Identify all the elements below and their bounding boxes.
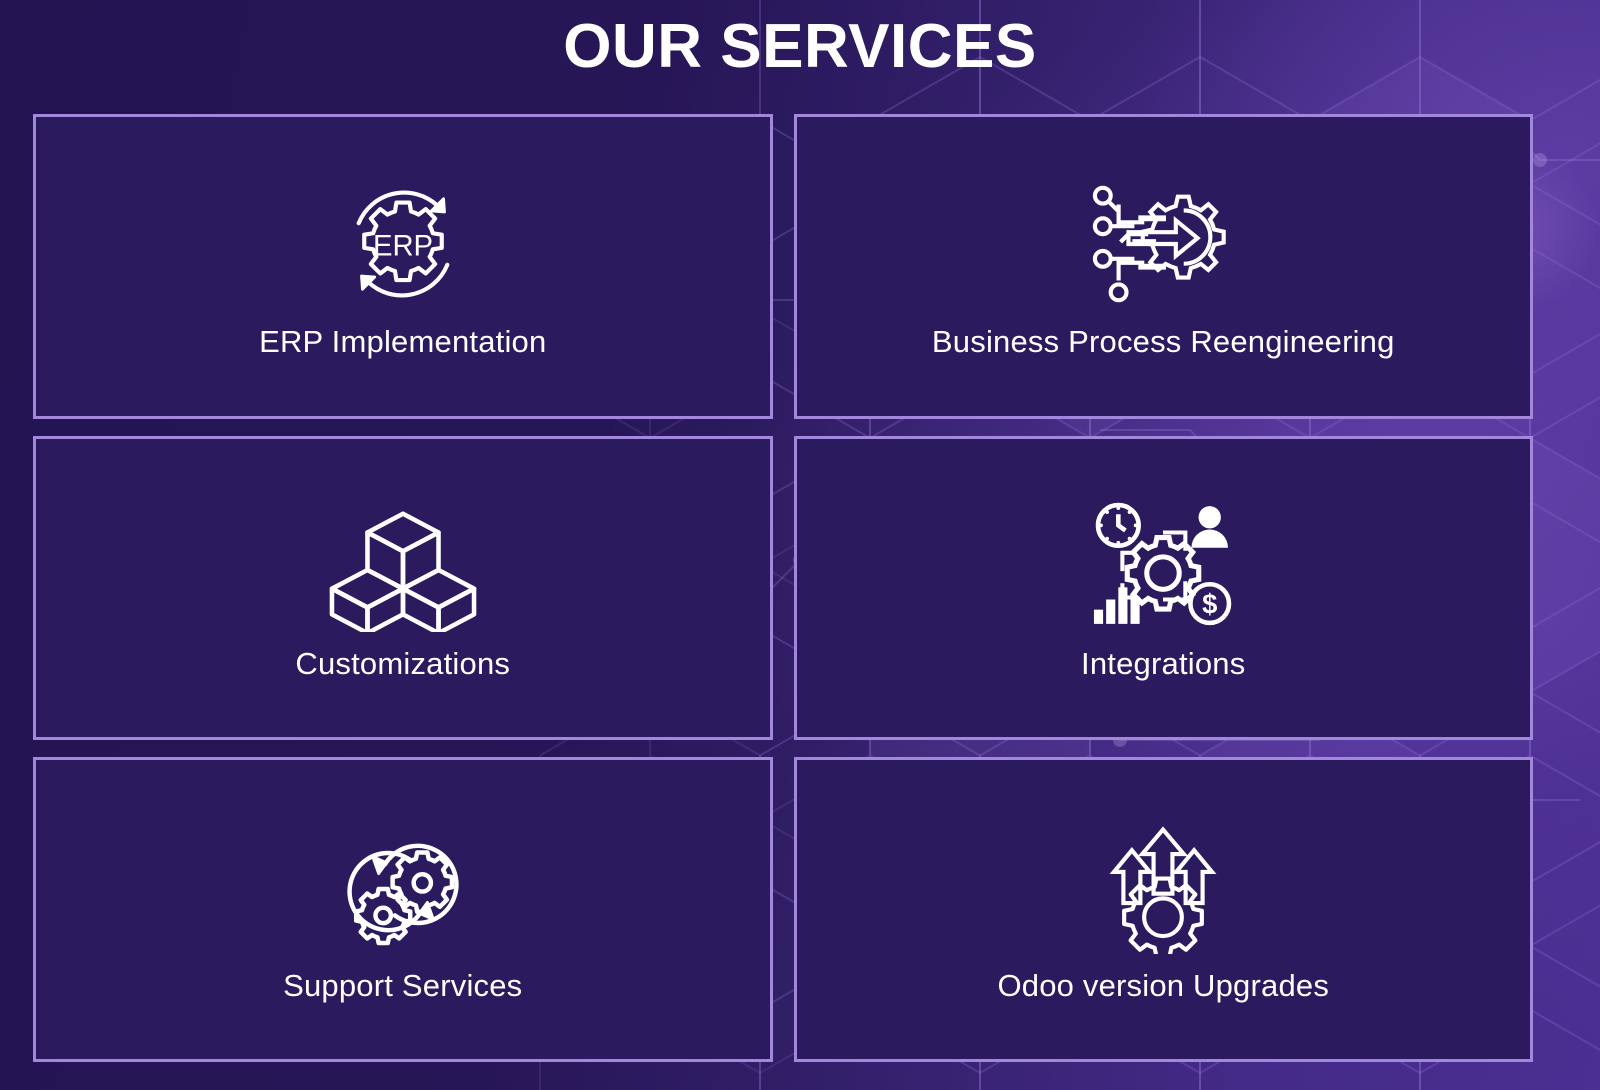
service-label: Support Services (283, 968, 522, 1004)
service-label: Customizations (295, 646, 510, 682)
two-gears-cycle-arrows-icon (329, 822, 477, 954)
service-card-customizations[interactable]: Customizations (33, 436, 773, 741)
service-card-support-services[interactable]: Support Services (33, 757, 773, 1062)
service-label: Integrations (1081, 646, 1245, 682)
service-card-business-process-reengineering[interactable]: Business Process Reengineering (794, 114, 1534, 419)
service-label: Odoo version Upgrades (997, 968, 1329, 1004)
services-grid: ERP ERP Implementation (33, 114, 1533, 1062)
gear-clock-user-chart-dollar-icon: $ (1089, 500, 1237, 632)
gear-up-arrows-icon (1089, 822, 1237, 954)
service-label: Business Process Reengineering (932, 324, 1395, 360)
erp-gear-refresh-icon: ERP (329, 178, 477, 310)
svg-text:$: $ (1202, 589, 1217, 620)
service-card-erp-implementation[interactable]: ERP ERP Implementation (33, 114, 773, 419)
service-card-integrations[interactable]: $ Integrations (794, 436, 1534, 741)
service-card-odoo-version-upgrades[interactable]: Odoo version Upgrades (794, 757, 1534, 1062)
service-label: ERP Implementation (259, 324, 546, 360)
page-title: OUR SERVICES (0, 16, 1600, 78)
circuit-arrow-gear-icon (1089, 178, 1237, 310)
isometric-cubes-icon (329, 500, 477, 632)
erp-icon-text: ERP (373, 231, 433, 263)
